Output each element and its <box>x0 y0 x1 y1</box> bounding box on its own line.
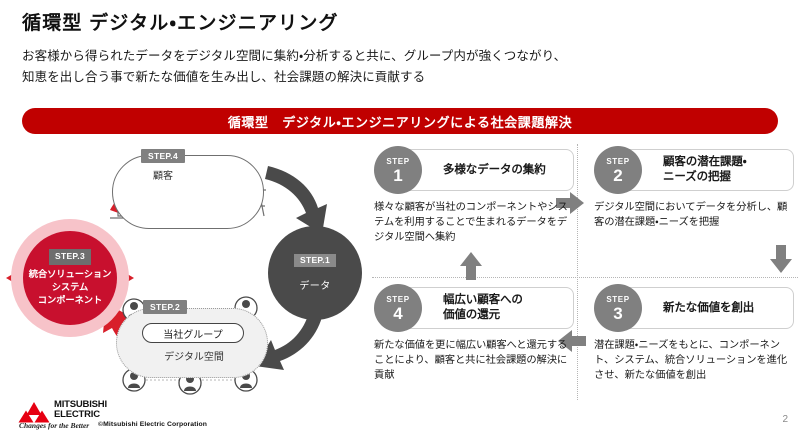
step-card-4-body: 新たな価値を更に幅広い顧客へと還元することにより、顧客と共に社会課題の解決に貢献 <box>374 338 574 383</box>
step-card-3-box: 新たな価値を創出 <box>618 287 794 329</box>
step-card-2-body: デジタル空間においてデータを分析し、顧客の潜在課題・ニーズを把握 <box>594 200 794 230</box>
step-badge-1-number: 1 <box>393 167 402 184</box>
digital-space-label: デジタル空間 <box>152 348 236 363</box>
step-card-2-title-line2: ニーズの把握 <box>663 170 747 185</box>
step-card-3-title: 新たな価値を創出 <box>663 301 754 316</box>
horizontal-divider <box>372 277 798 278</box>
step-card-4[interactable]: 幅広い顧客への 価値の還元 STEP 4 新たな価値を更に幅広い顧客へと還元する… <box>374 284 574 383</box>
step-badge-1: STEP 1 <box>374 146 422 194</box>
step-card-2-title: 顧客の潜在課題・ ニーズの把握 <box>663 155 747 185</box>
step-card-1-head: 多様なデータの集約 STEP 1 <box>374 146 574 194</box>
section-banner: 循環型 デジタル・エンジニアリングによる社会課題解決 <box>22 108 778 134</box>
customer-label: 顧客 <box>153 167 173 182</box>
step-card-1[interactable]: 多様なデータの集約 STEP 1 様々な顧客が当社のコンポーネントやシステムを利… <box>374 146 574 245</box>
step-card-2-head: 顧客の潜在課題・ ニーズの把握 STEP 2 <box>594 146 794 194</box>
step-badge-2-word: STEP <box>606 157 629 166</box>
step-card-3-body: 潜在課題・ニーズをもとに、コンポーネント、システム、統合ソリューションを進化させ… <box>594 338 794 383</box>
step-card-4-title-line1: 幅広い顧客への <box>443 293 523 308</box>
flow-arrow-up-icon <box>460 252 482 280</box>
step-badge-4-number: 4 <box>393 305 402 322</box>
cycle-diagram: STEP.4 顧客 STEP.1 データ STEP.2 当社グループ デジタル空… <box>0 142 370 397</box>
step-card-2-title-line1: 顧客の潜在課題・ <box>663 155 747 170</box>
step-badge-3-word: STEP <box>606 295 629 304</box>
step-badge-4-word: STEP <box>386 295 409 304</box>
step-card-3-head: 新たな価値を創出 STEP 3 <box>594 284 794 332</box>
step3-tag: STEP.3 <box>49 249 91 265</box>
logo-tagline: Changes for the Better <box>19 421 89 430</box>
step-badge-4: STEP 4 <box>374 284 422 332</box>
step2-tag: STEP.2 <box>143 300 187 314</box>
group-capsule <box>116 308 268 378</box>
solution-line-1: 統合ソリューション <box>29 268 112 281</box>
solution-circle: STEP.3 統合ソリューション システム コンポーネント <box>23 231 117 325</box>
step-card-2[interactable]: 顧客の潜在課題・ ニーズの把握 STEP 2 デジタル空間においてデータを分析し… <box>594 146 794 230</box>
step1-tag: STEP.1 <box>294 254 336 267</box>
step-card-4-head: 幅広い顧客への 価値の還元 STEP 4 <box>374 284 574 332</box>
flow-arrow-down-icon <box>770 245 792 273</box>
step-card-3-title-line1: 新たな価値を創出 <box>663 301 754 316</box>
step-card-2-box: 顧客の潜在課題・ ニーズの把握 <box>618 149 794 191</box>
lead-paragraph: お客様から得られたデータをデジタル空間に集約・分析すると共に、グループ内が強くつ… <box>22 46 566 88</box>
solution-line-2: システム <box>52 281 89 294</box>
logo-wordmark: MITSUBISHI ELECTRIC <box>54 400 107 420</box>
step4-tag: STEP.4 <box>141 149 185 163</box>
logo-word-line2: ELECTRIC <box>54 410 107 420</box>
step-badge-1-word: STEP <box>386 157 409 166</box>
solution-line-3: コンポーネント <box>38 294 102 307</box>
step-badge-3: STEP 3 <box>594 284 642 332</box>
lead-line-1: お客様から得られたデータをデジタル空間に集約・分析すると共に、グループ内が強くつ… <box>22 46 566 67</box>
vertical-divider <box>577 144 578 400</box>
customer-capsule <box>112 155 264 229</box>
step-badge-3-number: 3 <box>613 305 622 322</box>
step-card-3[interactable]: 新たな価値を創出 STEP 3 潜在課題・ニーズをもとに、コンポーネント、システ… <box>594 284 794 383</box>
page-number: 2 <box>782 414 788 425</box>
slide-root: 循環型 デジタル・エンジニアリング お客様から得られたデータをデジタル空間に集約… <box>0 0 800 433</box>
lead-line-2: 知恵を出し合う事で新たな価値を生み出し、社会課題の解決に貢献する <box>22 67 566 88</box>
step-badge-2: STEP 2 <box>594 146 642 194</box>
data-circle: STEP.1 データ <box>268 226 362 320</box>
data-label: データ <box>299 277 330 292</box>
step-card-1-box: 多様なデータの集約 <box>398 149 574 191</box>
group-pill: 当社グループ <box>142 323 244 343</box>
step-card-4-box: 幅広い顧客への 価値の還元 <box>398 287 574 329</box>
step-card-4-title: 幅広い顧客への 価値の還元 <box>443 293 523 323</box>
page-title: 循環型 デジタル・エンジニアリング <box>22 8 339 35</box>
mitsubishi-diamond-icon <box>18 401 50 423</box>
step-card-4-title-line2: 価値の還元 <box>443 308 523 323</box>
copyright-text: ©Mitsubishi Electric Corporation <box>98 421 207 428</box>
step-badge-2-number: 2 <box>613 167 622 184</box>
steps-grid: 多様なデータの集約 STEP 1 様々な顧客が当社のコンポーネントやシステムを利… <box>370 142 800 400</box>
step-card-1-title-line1: 多様なデータの集約 <box>443 163 546 178</box>
step-card-1-body: 様々な顧客が当社のコンポーネントやシステムを利用することで生まれるデータをデジタ… <box>374 200 574 245</box>
step-card-1-title: 多様なデータの集約 <box>443 163 546 178</box>
arrow-customer-to-data <box>265 166 327 234</box>
